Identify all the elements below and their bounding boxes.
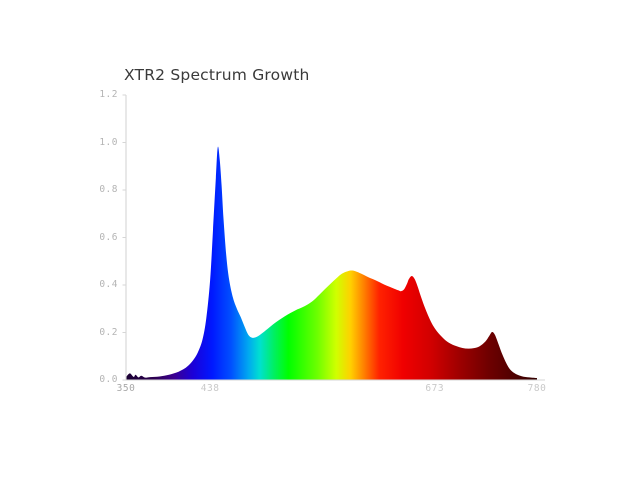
figure-canvas: XTR2 Spectrum Growth 0.00.20.40.60.81.01… bbox=[0, 0, 640, 480]
y-tick-label: 1.2 bbox=[88, 89, 118, 100]
y-tick-label: 1.0 bbox=[88, 137, 118, 148]
x-tick-label: 673 bbox=[415, 383, 455, 394]
x-tick-label: 780 bbox=[517, 383, 557, 394]
y-tick-label: 0.6 bbox=[88, 232, 118, 243]
spectrum-area-path bbox=[126, 147, 537, 380]
x-tick-label: 350 bbox=[106, 383, 146, 394]
y-tick-label: 0.4 bbox=[88, 279, 118, 290]
y-tick-label: 0.8 bbox=[88, 184, 118, 195]
x-tick-label: 438 bbox=[190, 383, 230, 394]
y-tick-label: 0.2 bbox=[88, 327, 118, 338]
